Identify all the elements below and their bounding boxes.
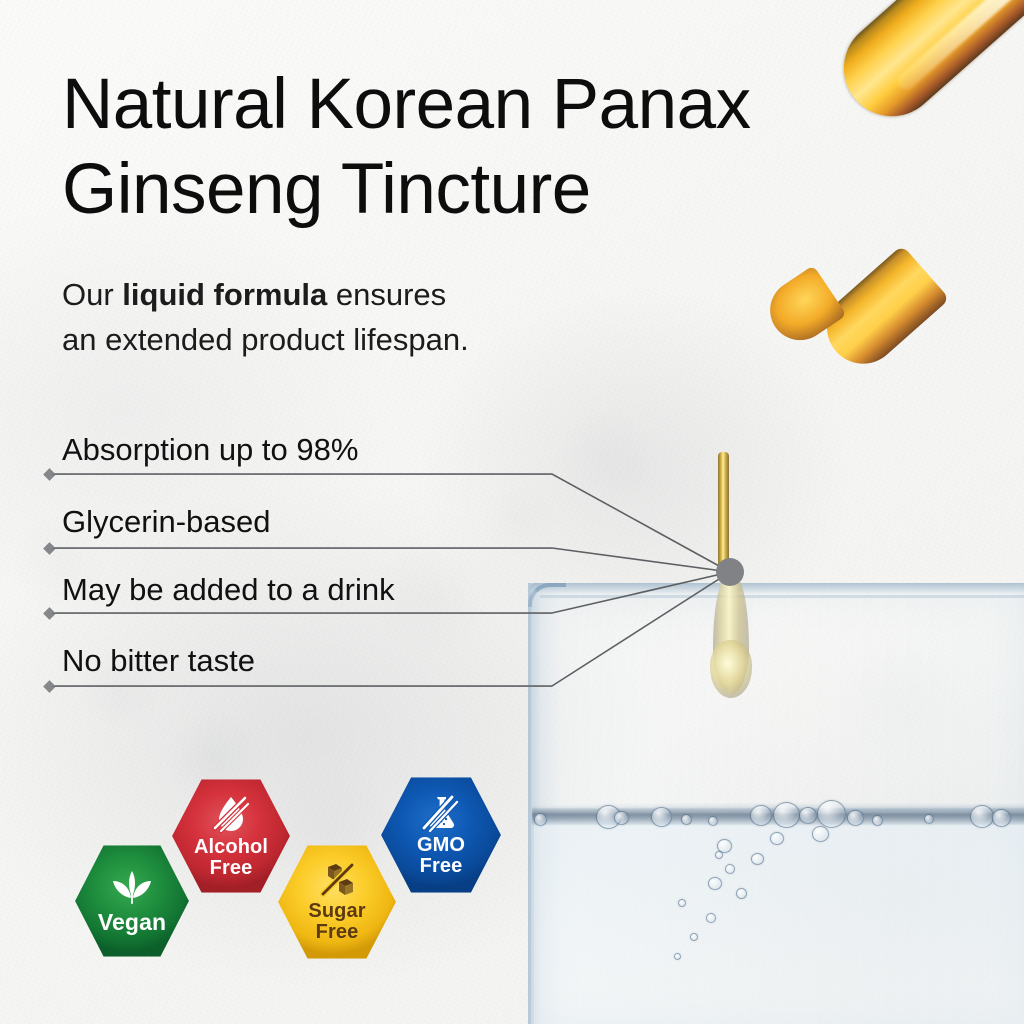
subtitle: Our liquid formula ensures an extended p… [62,272,622,362]
bubble [773,802,800,828]
sugar-cubes-slash-icon [317,862,357,898]
subtitle-emphasis: liquid formula [122,277,327,312]
bubble [690,933,698,941]
feature-rule-3 [52,613,552,614]
page-title: Natural Korean Panax Ginseng Tincture [62,62,932,232]
badge-sugar-free-label: Sugar Free [308,901,365,942]
bubble [750,805,772,826]
feature-label-4: No bitter taste [62,643,255,679]
subtitle-before: Our [62,277,122,312]
bubble [651,807,672,827]
feature-rule-2 [52,548,552,549]
bubble [770,832,784,845]
amber-tincture-liquid [718,452,729,580]
leaf-icon [110,867,154,907]
bubble [725,864,735,874]
glass-rim-inner-edge [540,595,1024,598]
droplet-slash-icon [211,794,251,834]
feature-label-3: May be added to a drink [62,572,395,608]
feature-rule-4 [52,686,552,687]
bubble [812,826,829,842]
bubble [872,815,883,826]
badge-vegan-content: Vegan [75,867,189,934]
bubble [614,811,629,825]
badge-gmo-free-label: GMO Free [417,835,465,876]
headline-line-1: Natural Korean Panax [62,62,932,147]
feature-rule-1 [52,474,552,475]
feature-label-2: Glycerin-based [62,504,270,540]
bubble [847,810,864,826]
bubble [715,851,723,859]
bubble [681,814,692,825]
bubble [534,813,547,826]
bubble [751,853,764,865]
bubble [970,805,994,828]
bubble [736,888,747,899]
bubble [799,807,817,824]
badge-gmo-free-content: GMO Free [381,794,501,876]
badge-alcohol-free-label: Alcohol Free [194,837,268,878]
badge-vegan-label: Vegan [98,911,166,934]
badge-sugar-free-content: Sugar Free [278,862,396,942]
subtitle-after: ensures [327,277,446,312]
bubble [708,816,718,826]
product-infographic: Natural Korean Panax Ginseng Tincture Ou… [0,0,1024,1024]
bubble [706,913,716,923]
glass-rim [530,583,1024,593]
bubble [992,809,1011,827]
bubble [924,814,934,824]
bubble [678,899,686,907]
water-body [534,823,1024,1024]
badge-alcohol-free-content: Alcohol Free [172,794,290,878]
bubble [817,800,846,828]
bubble [708,877,722,890]
bubble [674,953,681,960]
subtitle-line-2: an extended product lifespan. [62,317,622,362]
headline-line-2: Ginseng Tincture [62,147,932,232]
subtitle-line-1: Our liquid formula ensures [62,272,622,317]
feature-label-1: Absorption up to 98% [62,432,358,468]
flask-slash-icon [421,794,461,832]
glass-of-water [518,583,1024,1024]
